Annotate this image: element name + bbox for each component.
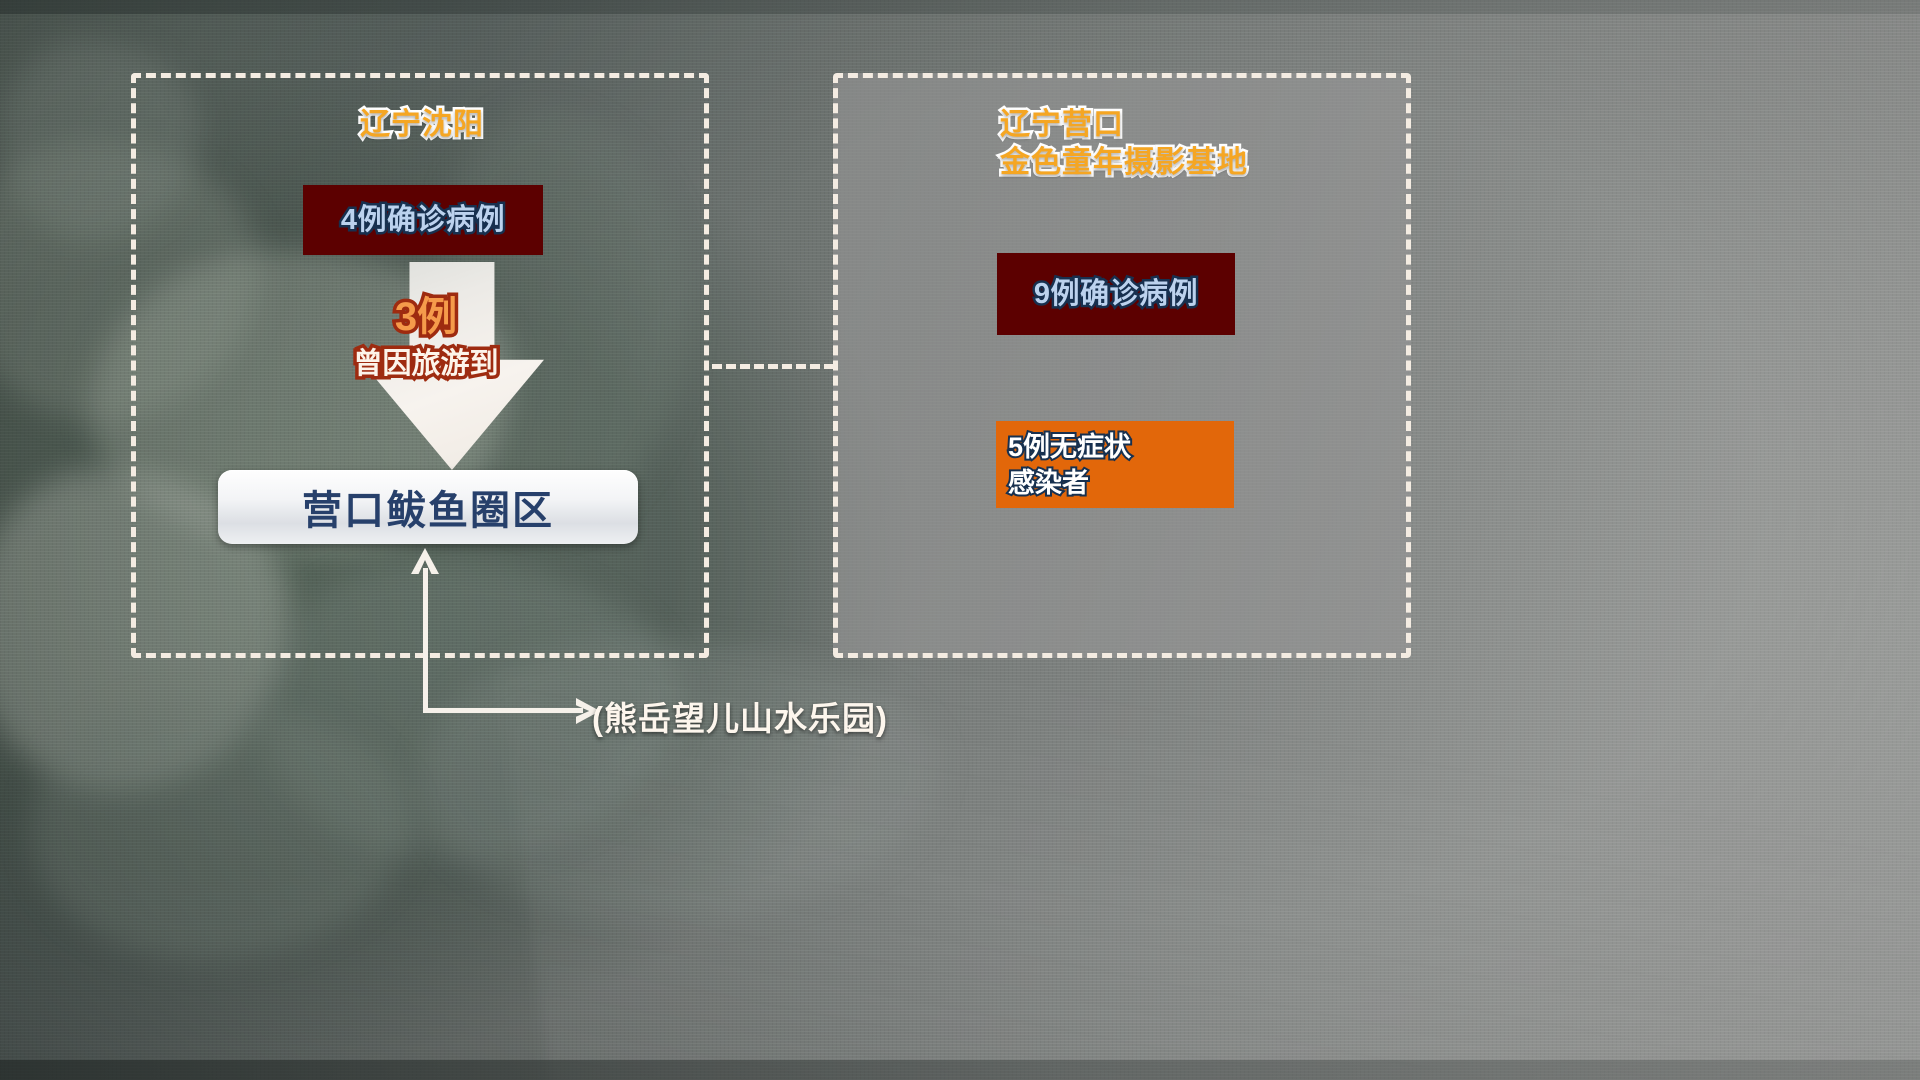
panel-shenyang-heading: 辽宁沈阳: [360, 106, 484, 144]
infographic-canvas: 辽宁沈阳 4例确诊病例 3例 曾因旅游到 营口鲅鱼圈区 (熊岳望儿山水乐园) 辽…: [0, 0, 1920, 1080]
shenyang-confirmed-cases-label: 4例确诊病例: [341, 202, 505, 238]
destination-box: 营口鲅鱼圈区: [218, 470, 638, 544]
venue-connector-horizontal: [423, 708, 583, 713]
yingkou-confirmed-cases-label: 9例确诊病例: [1034, 276, 1198, 312]
shenyang-transfer-reason: 曾因旅游到: [278, 340, 574, 382]
shenyang-confirmed-cases-box: 4例确诊病例: [303, 185, 543, 255]
yingkou-asymptomatic-cases-box: 5例无症状 感染者: [996, 421, 1234, 508]
panel-yingkou-heading: 辽宁营口 金色童年摄影基地: [1000, 106, 1248, 182]
panel-connector-dashed-line: [712, 364, 834, 369]
top-edge-band: [0, 0, 1920, 14]
venue-label: (熊岳望儿山水乐园): [592, 692, 888, 740]
yingkou-asymptomatic-cases-label: 5例无症状 感染者: [1008, 429, 1131, 501]
shenyang-transfer-count: 3例: [308, 284, 544, 342]
venue-connector-vertical: [423, 568, 428, 712]
bottom-edge-band: [0, 1060, 1920, 1080]
yingkou-confirmed-cases-box: 9例确诊病例: [997, 253, 1235, 335]
destination-label: 营口鲅鱼圈区: [302, 478, 554, 536]
